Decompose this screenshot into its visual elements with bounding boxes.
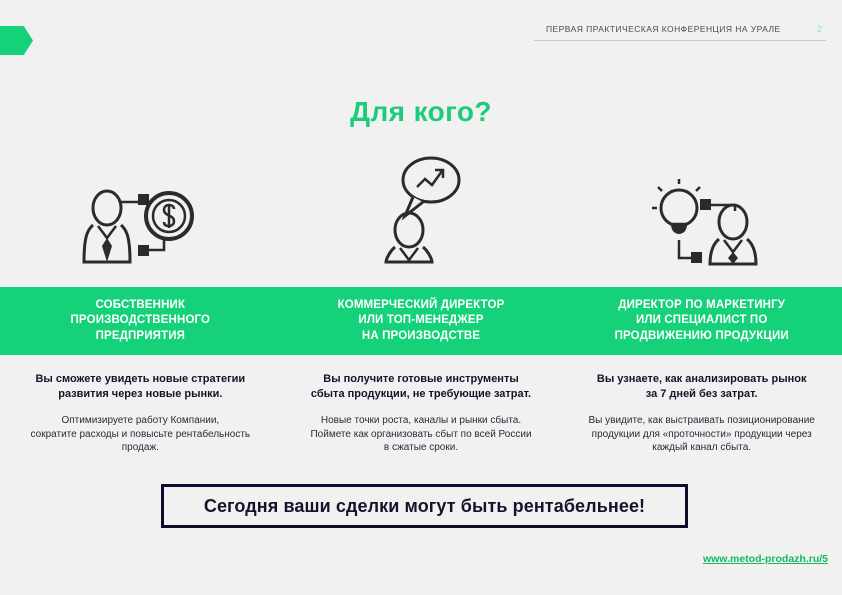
cta-box: Сегодня ваши сделки могут быть рентабель…	[161, 484, 688, 528]
benefit-lead-1: Вы сможете увидеть новые стратегии разви…	[14, 372, 267, 401]
role-heading-marketing-director: ДИРЕКТОР ПО МАРКЕТИНГУ ИЛИ СПЕЦИАЛИСТ ПО…	[615, 298, 789, 345]
benefit-column-1: Вы сможете увидеть новые стратегии разви…	[0, 372, 281, 455]
role-heading-owner: СОБСТВЕННИК ПРОИЗВОДСТВЕННОГО ПРЕДПРИЯТИ…	[71, 298, 211, 345]
benefit-sub-1: Оптимизируете работу Компании, сократите…	[14, 414, 267, 455]
header: ПЕРВАЯ ПРАКТИЧЕСКАЯ КОНФЕРЕНЦИЯ НА УРАЛЕ…	[534, 24, 826, 41]
benefit-sub-3: Вы увидите, как выстраивать позициониров…	[575, 414, 828, 455]
icon-cell-3	[561, 150, 842, 268]
benefit-lead-2: Вы получите готовые инструменты сбыта пр…	[295, 372, 548, 401]
businessman-dollar-coin-icon	[81, 178, 199, 266]
cta-text: Сегодня ваши сделки могут быть рентабель…	[204, 496, 645, 517]
role-heading-commercial-director: КОММЕРЧЕСКИЙ ДИРЕКТОР ИЛИ ТОП-МЕНЕДЖЕР Н…	[338, 298, 505, 345]
lightbulb-businessman-icon	[643, 178, 761, 266]
businessman-speech-bubble-growth-icon	[375, 154, 467, 266]
icon-cell-1	[0, 150, 281, 268]
footer-website-link[interactable]: www.metod-prodazh.ru/5	[703, 553, 828, 565]
benefit-column-3: Вы узнаете, как анализировать рынок за 7…	[561, 372, 842, 455]
band-cell-3: ДИРЕКТОР ПО МАРКЕТИНГУ ИЛИ СПЕЦИАЛИСТ ПО…	[561, 287, 842, 355]
header-line: ПЕРВАЯ ПРАКТИЧЕСКАЯ КОНФЕРЕНЦИЯ НА УРАЛЕ…	[534, 24, 826, 40]
benefits-row: Вы сможете увидеть новые стратегии разви…	[0, 372, 842, 455]
slide: ПЕРВАЯ ПРАКТИЧЕСКАЯ КОНФЕРЕНЦИЯ НА УРАЛЕ…	[0, 0, 842, 595]
header-divider	[534, 40, 826, 41]
roles-band: СОБСТВЕННИК ПРОИЗВОДСТВЕННОГО ПРЕДПРИЯТИ…	[0, 287, 842, 355]
icon-cell-2	[281, 150, 562, 268]
benefit-lead-3: Вы узнаете, как анализировать рынок за 7…	[575, 372, 828, 401]
header-arrow-shape	[0, 26, 33, 55]
page-title: Для кого?	[0, 96, 842, 128]
conference-title: ПЕРВАЯ ПРАКТИЧЕСКАЯ КОНФЕРЕНЦИЯ НА УРАЛЕ	[546, 24, 781, 34]
icons-row	[0, 150, 842, 268]
band-cell-1: СОБСТВЕННИК ПРОИЗВОДСТВЕННОГО ПРЕДПРИЯТИ…	[0, 287, 281, 355]
benefit-sub-2: Новые точки роста, каналы и рынки сбыта.…	[295, 414, 548, 455]
band-cell-2: КОММЕРЧЕСКИЙ ДИРЕКТОР ИЛИ ТОП-МЕНЕДЖЕР Н…	[281, 287, 562, 355]
benefit-column-2: Вы получите готовые инструменты сбыта пр…	[281, 372, 562, 455]
page-number: 2	[817, 24, 822, 34]
